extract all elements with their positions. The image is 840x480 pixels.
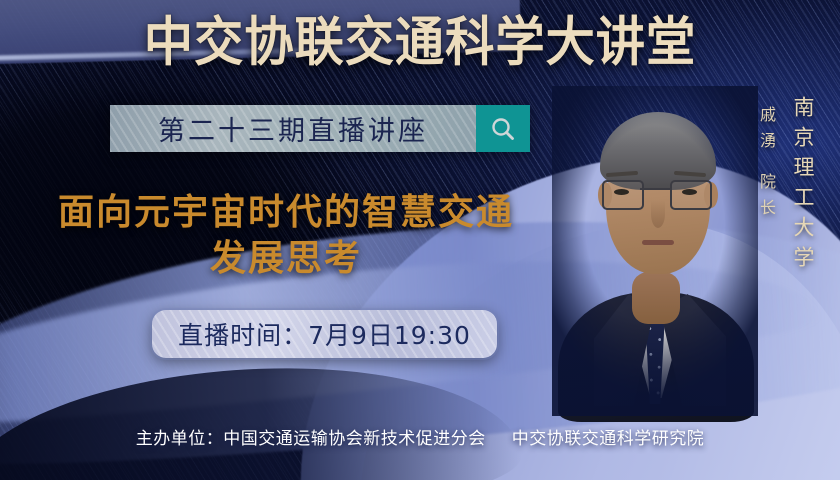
subtitle-label: 第二十三期直播讲座	[158, 109, 428, 148]
search-icon	[489, 115, 517, 143]
search-icon-box[interactable]	[476, 105, 530, 152]
portrait-nose	[651, 200, 665, 228]
portrait-mouth	[642, 240, 674, 245]
speaker-organization: 南京理工大学	[788, 96, 818, 276]
portrait-glasses-left	[602, 180, 644, 210]
speaker-name-title: 戚湧 院长	[754, 106, 778, 225]
broadcast-time-badge: 直播时间：7月9日19:30	[152, 310, 497, 358]
subtitle-banner: 第二十三期直播讲座	[110, 105, 530, 152]
organizers-prefix: 主办单位：	[136, 429, 224, 449]
subtitle-banner-fill: 第二十三期直播讲座	[110, 105, 476, 152]
portrait-hair	[600, 112, 716, 190]
poster-canvas: 中交协联交通科学大讲堂 第二十三期直播讲座 面向元宇宙时代的智慧交通 发展思考 …	[0, 0, 840, 480]
lecture-title-line2: 发展思考	[26, 236, 546, 282]
organizers-line: 主办单位：中国交通运输协会新技术促进分会中交协联交通科学研究院	[0, 424, 840, 449]
organizer-primary: 中国交通运输协会新技术促进分会	[223, 429, 486, 449]
portrait-eye-right	[682, 189, 697, 195]
speaker-portrait	[566, 96, 742, 402]
organizer-secondary: 中交协联交通科学研究院	[512, 429, 705, 449]
lecture-title: 面向元宇宙时代的智慧交通 发展思考	[26, 190, 546, 282]
portrait-eye-left	[614, 189, 629, 195]
portrait-glasses-right	[670, 180, 712, 210]
portrait-glasses-bridge	[640, 188, 670, 190]
lecture-title-line1: 面向元宇宙时代的智慧交通	[26, 190, 546, 236]
portrait-neck	[632, 272, 680, 324]
page-title: 中交协联交通科学大讲堂	[29, 16, 810, 69]
broadcast-time-label: 直播时间：7月9日19:30	[178, 316, 471, 352]
